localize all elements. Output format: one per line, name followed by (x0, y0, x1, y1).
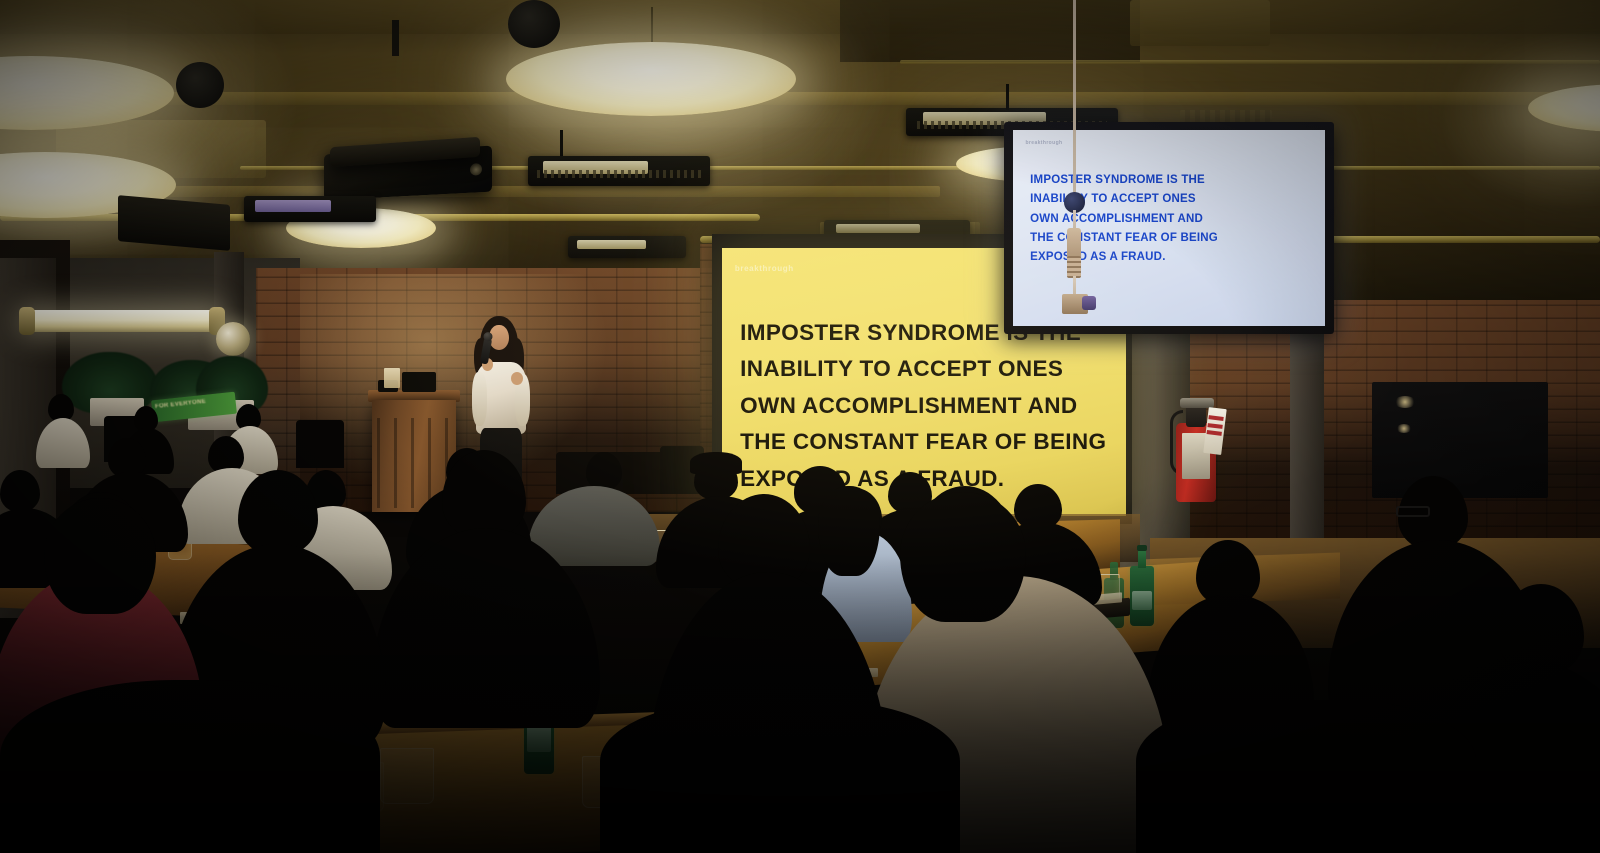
foreground-silhouette (1136, 700, 1476, 853)
bottle-cap (1137, 545, 1148, 551)
fire-extinguisher (1176, 398, 1216, 502)
audience-head (586, 452, 622, 490)
wall-sign-text: FOR EVERYONE (155, 398, 206, 409)
pendant-rings (1067, 256, 1081, 278)
slide-line-4: THE CONSTANT FEAR OF BEING (740, 424, 1110, 460)
bar-lens (255, 200, 332, 211)
bar-lens (836, 224, 921, 234)
beverage-bottle (1130, 566, 1154, 626)
ceiling-speaker-round (176, 62, 224, 108)
bottle-label (527, 725, 552, 752)
wall-display-dark (1372, 382, 1548, 498)
podium-equipment (402, 372, 436, 392)
disco-ball (216, 322, 250, 356)
microphone-head (483, 331, 493, 341)
ceiling-recess (840, 0, 1140, 62)
disc-pendant-lamp (1528, 84, 1600, 132)
podium-paper (384, 368, 400, 388)
audience-hair (900, 492, 1026, 622)
slide-line-2: INABILITY TO ACCEPT ONES (740, 351, 1110, 387)
tv-slide-corner-tag: breakthrough (1025, 140, 1062, 146)
ceiling-beam (0, 92, 1600, 105)
fixture-hanger (560, 130, 563, 158)
bottle-neck (1138, 550, 1147, 568)
presenter-hand (511, 372, 523, 385)
slide-corner-tag: breakthrough (735, 264, 794, 273)
ceiling-speaker-round (508, 0, 560, 48)
slide-body-text: IMPOSTER SYNDROME IS THE INABILITY TO AC… (740, 315, 1110, 497)
event-photo-scene: FOR EVERYONE breakthrough IMPOSTER SYNDR… (0, 0, 1600, 853)
bottle-label (1132, 591, 1152, 610)
fixture-hanger (1006, 84, 1009, 110)
hanging-cord (1073, 0, 1076, 198)
lamp-disc (1528, 84, 1600, 132)
eyeglasses (1396, 506, 1430, 517)
disc-pendant-lamp (506, 42, 796, 116)
ceiling-conduit-high (900, 60, 1600, 64)
audience-hair (44, 498, 156, 614)
projector-mount (392, 20, 399, 56)
bar-lens (577, 240, 645, 250)
lamp-disc (0, 56, 174, 130)
plug-tip (1082, 296, 1096, 310)
display-glint (1394, 396, 1416, 408)
baseball-cap (690, 452, 742, 474)
lounge-chair (296, 420, 344, 468)
disc-pendant-lamp (0, 56, 174, 130)
tube-pendant-lamp (24, 310, 220, 332)
foreground-silhouette (0, 680, 380, 853)
foreground-silhouette (600, 700, 960, 853)
audience-head (0, 470, 40, 512)
tube-cap (19, 307, 35, 335)
ceiling-speaker (118, 195, 230, 251)
led-bar-fixture (244, 196, 376, 222)
lamp-disc (506, 42, 796, 116)
bar-slots (537, 170, 701, 178)
projector-lens (470, 163, 482, 176)
led-bar-fixture (568, 236, 686, 258)
slide-line-3: OWN ACCOMPLISHMENT AND (740, 388, 1110, 424)
tv-monitor-screen: breakthrough IMPOSTER SYNDROME IS THE IN… (1013, 130, 1325, 326)
plastic-cup (380, 748, 434, 804)
audience-hair (818, 486, 880, 576)
ceiling-slab (0, 0, 1600, 34)
display-glint (1396, 424, 1412, 433)
presenter-arm-left (472, 372, 487, 426)
pendant-plug (1062, 294, 1088, 314)
led-bar-fixture (528, 156, 710, 186)
ceiling-duct-right (1130, 0, 1270, 46)
